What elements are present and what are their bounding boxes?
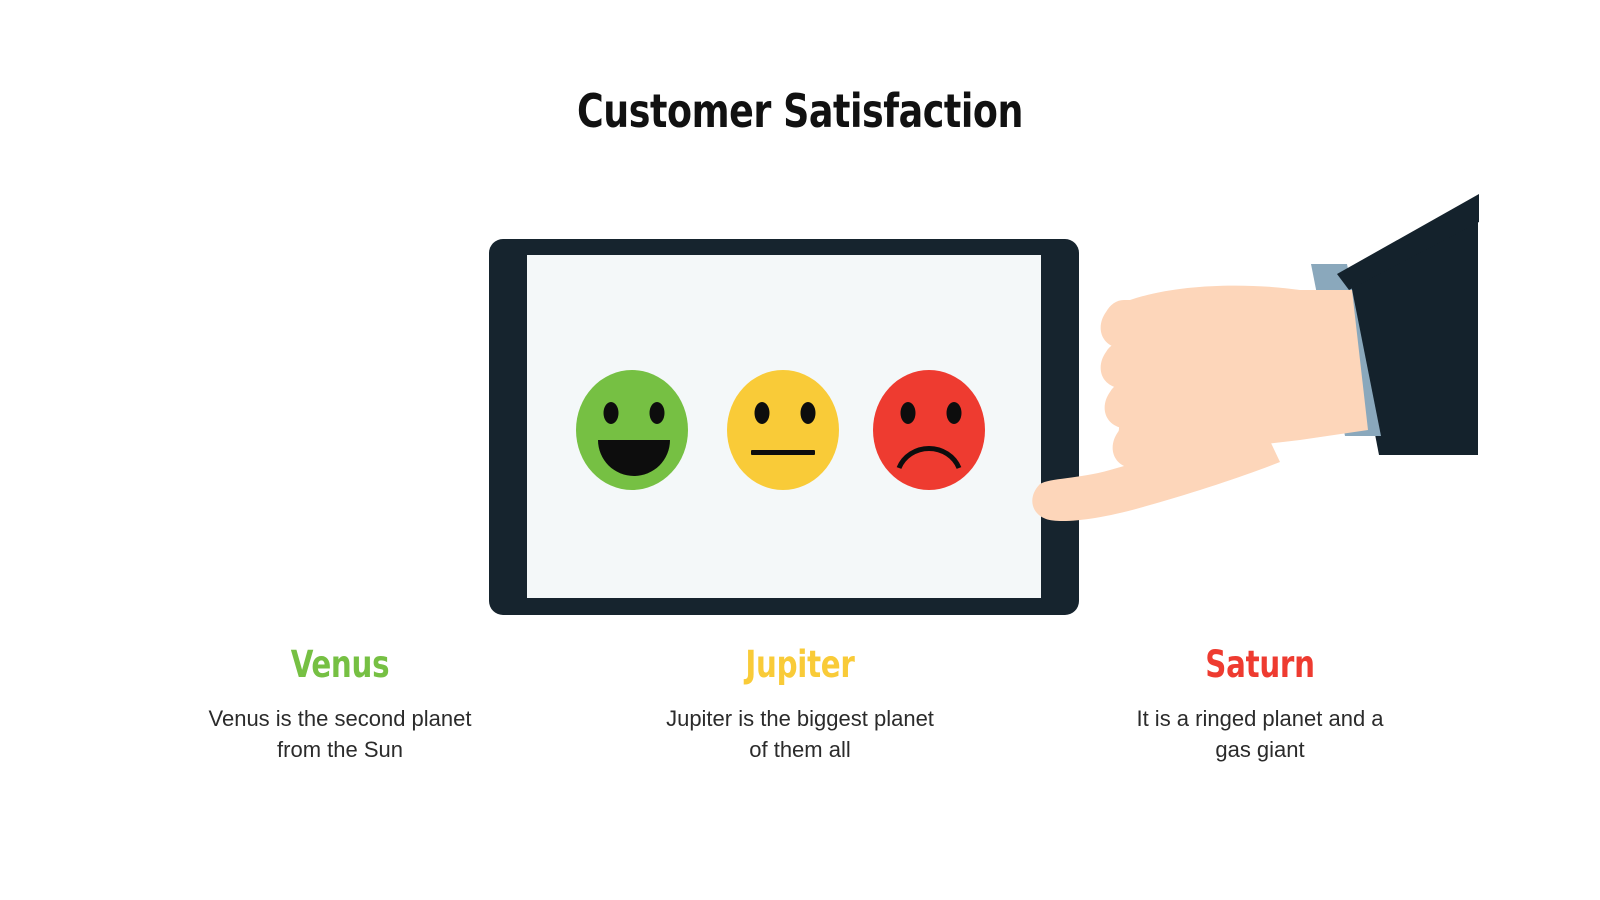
caption-body-venus: Venus is the second planet from the Sun xyxy=(150,703,530,765)
caption-title-saturn: Saturn xyxy=(1093,646,1427,685)
hand-back xyxy=(1118,286,1368,460)
happy-face-eye-right xyxy=(650,402,665,424)
tablet-screen xyxy=(527,255,1041,598)
neutral-face-head xyxy=(727,370,839,490)
caption-column-jupiter: Jupiter Jupiter is the biggest planet of… xyxy=(610,646,990,765)
hand-knuckle-3 xyxy=(1105,382,1184,428)
happy-face-mouth xyxy=(598,440,670,476)
slide-canvas: Customer Satisfaction xyxy=(0,0,1600,900)
hand-knuckle-1 xyxy=(1101,300,1180,348)
hand-knuckle-4 xyxy=(1113,422,1192,468)
caption-body-jupiter: Jupiter is the biggest planet of them al… xyxy=(610,703,990,765)
pointing-hand xyxy=(1032,194,1479,521)
caption-body-saturn: It is a ringed planet and a gas giant xyxy=(1070,703,1450,765)
happy-face-head xyxy=(576,370,688,490)
neutral-face-icon[interactable] xyxy=(727,370,839,490)
caption-title-jupiter: Jupiter xyxy=(633,646,967,685)
neutral-face-eye-right xyxy=(801,402,816,424)
caption-column-venus: Venus Venus is the second planet from th… xyxy=(150,646,530,765)
tablet-device[interactable] xyxy=(489,239,1079,615)
caption-row: Venus Venus is the second planet from th… xyxy=(150,646,1450,765)
neutral-face-eye-left xyxy=(755,402,770,424)
sad-face-head xyxy=(873,370,985,490)
happy-face-icon[interactable] xyxy=(576,370,688,490)
index-finger xyxy=(1032,424,1280,521)
hand-knuckle-2 xyxy=(1101,342,1180,388)
neutral-face-mouth xyxy=(751,450,815,455)
sad-face-eye-right xyxy=(947,402,962,424)
happy-face-eye-left xyxy=(604,402,619,424)
caption-column-saturn: Saturn It is a ringed planet and a gas g… xyxy=(1070,646,1450,765)
page-title: Customer Satisfaction xyxy=(96,84,1504,138)
sad-face-icon[interactable] xyxy=(873,370,985,490)
suit-sleeve-top xyxy=(1337,194,1479,290)
suit-sleeve xyxy=(1346,201,1478,455)
sad-face-mouth xyxy=(899,448,959,468)
tablet-bezel xyxy=(489,239,1079,615)
caption-title-venus: Venus xyxy=(173,646,507,685)
shirt-cuff xyxy=(1311,264,1381,436)
sad-face-eye-left xyxy=(901,402,916,424)
